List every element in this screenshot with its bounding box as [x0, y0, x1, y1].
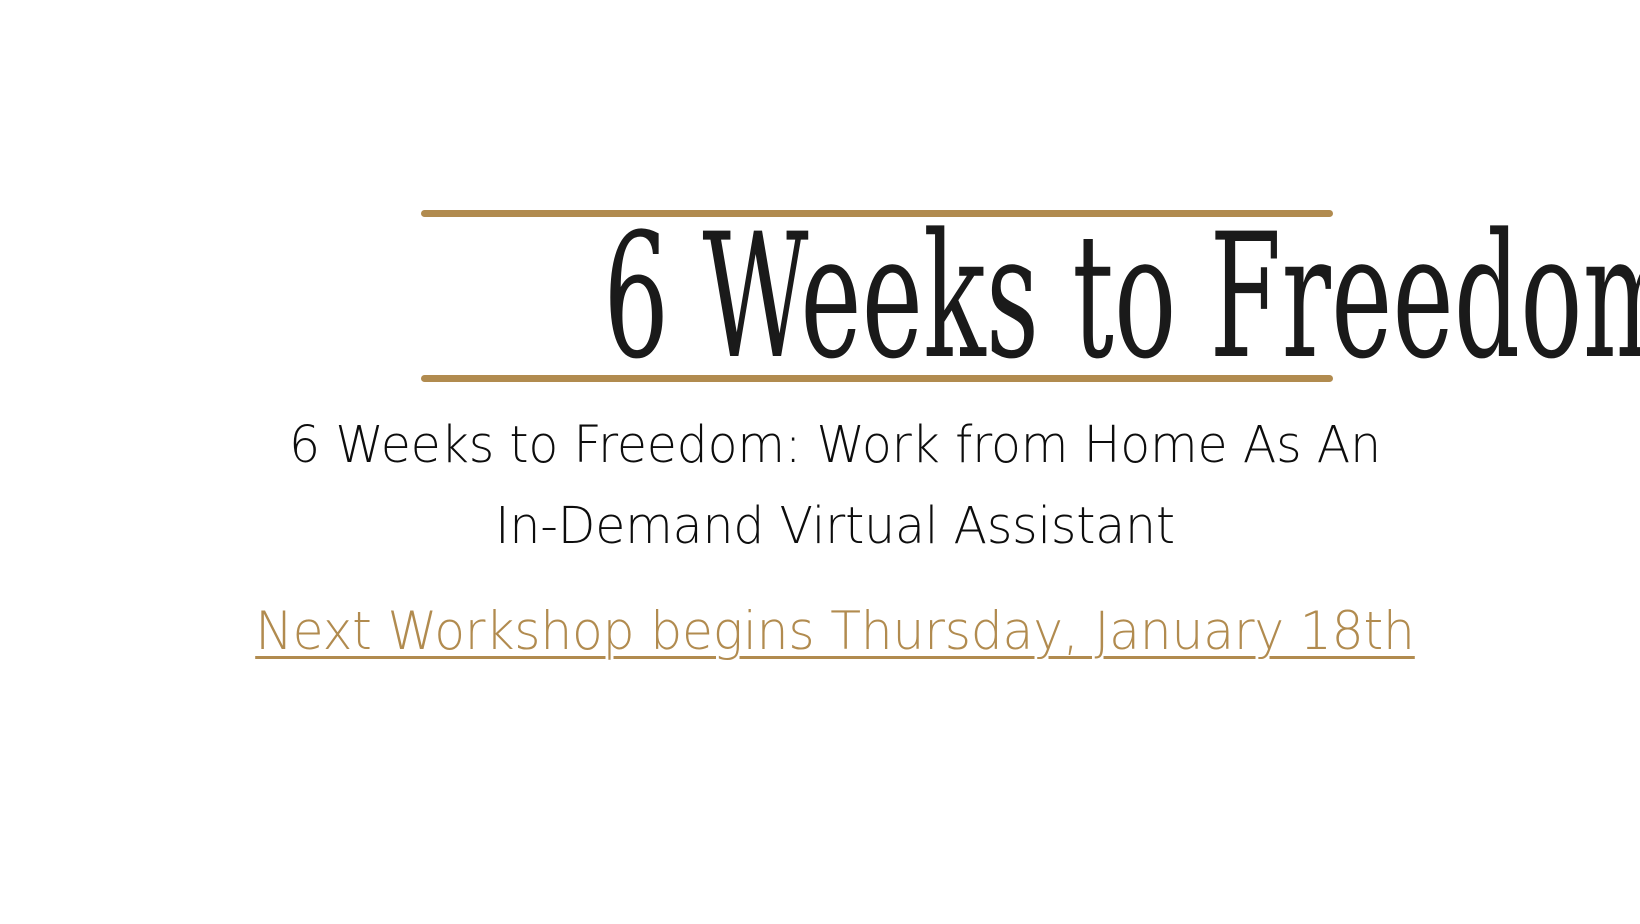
- page-title: 6 Weeks to Freedom: [603, 217, 1150, 375]
- subtitle-line-2: In-Demand Virtual Assistant: [197, 486, 1474, 567]
- slide-canvas: 6 Weeks to Freedom 6 Weeks to Freedom: W…: [0, 0, 1640, 924]
- workshop-date-link[interactable]: Next Workshop begins Thursday, January 1…: [255, 601, 1415, 662]
- subtitle: 6 Weeks to Freedom: Work from Home As An…: [197, 405, 1474, 567]
- subtitle-line-1: 6 Weeks to Freedom: Work from Home As An: [197, 405, 1474, 486]
- workshop-date-link-container: Next Workshop begins Thursday, January 1…: [203, 598, 1467, 666]
- title-block: 6 Weeks to Freedom: [421, 210, 1333, 382]
